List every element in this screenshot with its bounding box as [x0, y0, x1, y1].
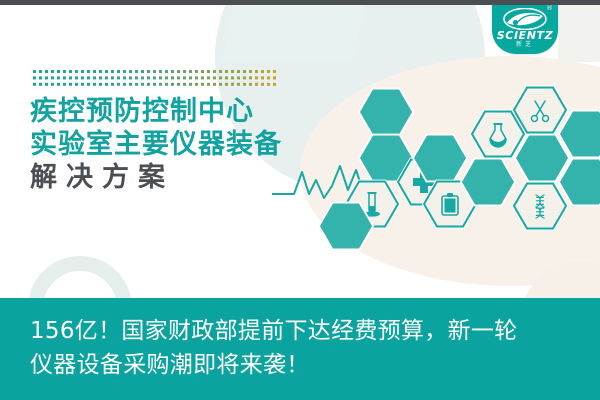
scientz-logo[interactable]: ® SCIENTZ 新芝 — [492, 0, 558, 54]
headline-block: 疾控预防控制中心 实验室主要仪器装备 解决方案 — [30, 95, 370, 194]
banner-line-2: 仪器设备采购潮即将来袭！ — [30, 348, 578, 382]
logo-backing-sheet — [558, 0, 600, 62]
hex-solid-6 — [514, 134, 570, 183]
logo-chinese-name: 新芝 — [492, 41, 558, 48]
announcement-banner: 156亿！国家财政部提前下达经费预算，新一轮 仪器设备采购潮即将来袭！ — [0, 298, 600, 400]
hex-icon-dna — [512, 182, 568, 231]
banner-text-block: 156亿！国家财政部提前下达经费预算，新一轮 仪器设备采购潮即将来袭！ — [30, 314, 578, 382]
headline-line-3: 解决方案 — [30, 161, 370, 194]
swoosh-icon — [502, 8, 548, 30]
logo-wordmark: SCIENTZ — [492, 30, 558, 41]
headline-line-1: 疾控预防控制中心 — [30, 95, 370, 128]
headline-line-2: 实验室主要仪器装备 — [30, 128, 370, 161]
banner-line-1: 156亿！国家财政部提前下达经费预算，新一轮 — [30, 314, 578, 348]
promo-poster: ® SCIENTZ 新芝 疾控预防控制中心 实验室主要仪器装备 解决方案 — [0, 0, 600, 400]
top-rail — [0, 0, 600, 5]
